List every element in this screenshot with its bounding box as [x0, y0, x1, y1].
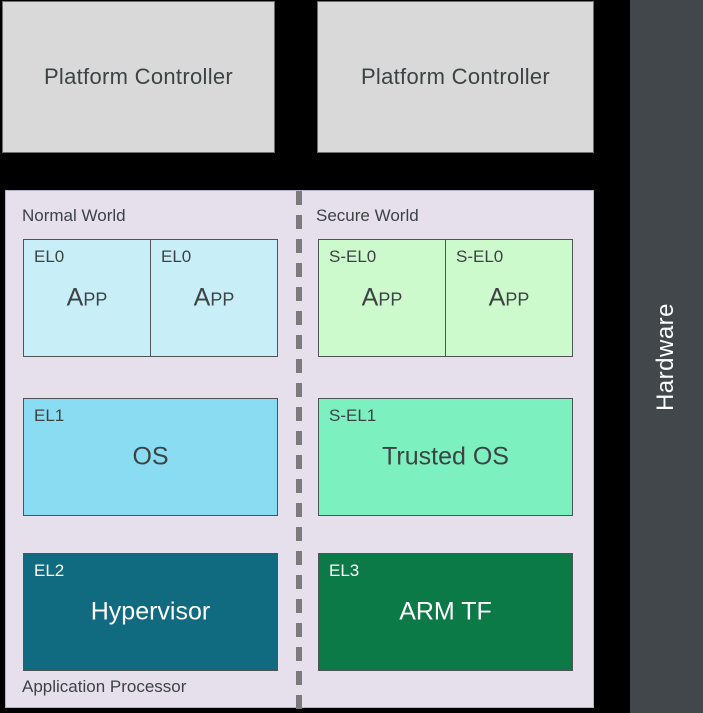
layer-box-el2-hypervisor: EL2 Hypervisor	[23, 553, 278, 671]
platform-controller-box-2: Platform Controller	[317, 1, 594, 153]
layer-box-title: Trusted OS	[319, 443, 572, 472]
layer-box-title: App	[151, 284, 277, 313]
exception-level-label: EL3	[329, 561, 359, 581]
world-divider-dashed	[296, 191, 302, 709]
platform-controller-label: Platform Controller	[44, 64, 233, 90]
exception-level-label: S-EL0	[329, 247, 376, 267]
exception-level-label: S-EL0	[456, 247, 503, 267]
secure-world-title: Secure World	[316, 206, 419, 226]
normal-world-title: Normal World	[22, 206, 126, 226]
layer-box-el0-app-left: EL0 App	[23, 239, 151, 357]
exception-level-label: S-EL1	[329, 406, 376, 426]
layer-box-sel1-trusted-os: S-EL1 Trusted OS	[318, 398, 573, 516]
exception-level-label: EL1	[34, 406, 64, 426]
exception-level-label: EL2	[34, 561, 64, 581]
layer-box-title: OS	[24, 443, 277, 472]
layer-box-el3-arm-tf: EL3 ARM TF	[318, 553, 573, 671]
application-processor-container: Normal World Secure World EL0 App EL0 Ap…	[5, 190, 594, 708]
layer-box-el0-app-right: EL0 App	[150, 239, 278, 357]
layer-box-title: ARM TF	[319, 598, 572, 627]
layer-box-title: App	[319, 284, 445, 313]
application-processor-label: Application Processor	[22, 677, 186, 697]
platform-controller-label: Platform Controller	[361, 64, 550, 90]
exception-level-label: EL0	[161, 247, 191, 267]
exception-level-label: EL0	[34, 247, 64, 267]
platform-controller-box-1: Platform Controller	[2, 1, 275, 153]
layer-box-title: App	[24, 284, 150, 313]
hardware-band: Hardware	[630, 0, 703, 713]
layer-box-title: Hypervisor	[24, 598, 277, 627]
hardware-label: Hardware	[653, 302, 681, 410]
layer-box-sel0-app-left: S-EL0 App	[318, 239, 446, 357]
layer-box-el1-os: EL1 OS	[23, 398, 278, 516]
layer-box-sel0-app-right: S-EL0 App	[445, 239, 573, 357]
layer-box-title: App	[446, 284, 572, 313]
